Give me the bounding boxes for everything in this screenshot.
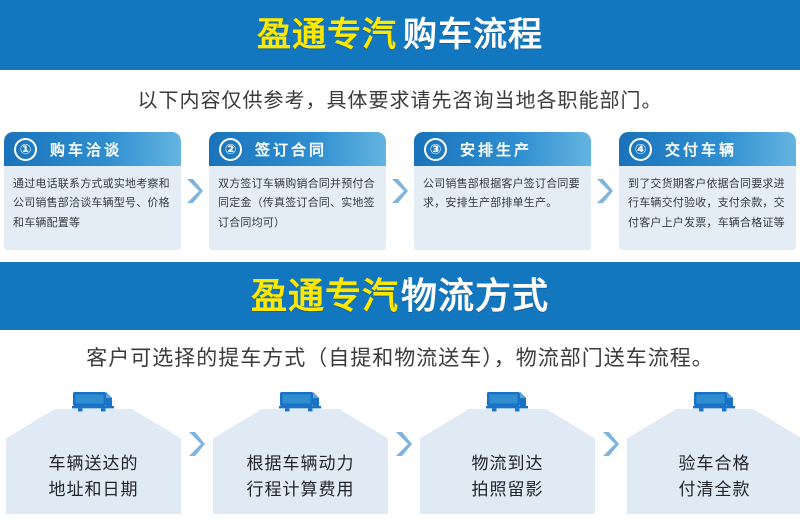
step-title: 交付车辆	[665, 139, 737, 160]
purchase-steps-row: ① 购车洽谈 通过电话联系方式或实地考察和公司销售部洽谈车辆型号、价格和车辆配置…	[0, 132, 800, 262]
step-title: 购车洽谈	[50, 139, 122, 160]
logistics-step-item: 验车合格 付清全款	[627, 388, 800, 514]
logistics-step-item: 车辆送达的 地址和日期	[6, 388, 181, 514]
logistics-chevron-arrow-1	[181, 388, 213, 514]
logistics-step-line1: 根据车辆动力	[213, 451, 388, 477]
chevron-right-icon	[391, 178, 409, 204]
truck-icon	[485, 390, 531, 414]
chevron-right-icon	[186, 178, 204, 204]
step-chevron-arrow-3	[591, 132, 619, 250]
logistics-step-line1: 物流到达	[420, 451, 595, 477]
logistics-step-text: 物流到达 拍照留影	[420, 451, 595, 502]
chevron-right-icon	[188, 431, 206, 457]
logistics-banner-rest: 物流方式	[401, 275, 549, 316]
logistics-step-item: 根据车辆动力 行程计算费用	[213, 388, 388, 514]
step-title: 签订合同	[255, 139, 327, 160]
truck-icon	[278, 390, 324, 414]
purchase-step-card: ② 签订合同 双方签订车辆购销合同并预付合同定金（传真签订合同、实地签订合同均可…	[209, 132, 386, 250]
purchase-section-banner: 盈通专汽购车流程	[0, 0, 800, 70]
chevron-right-icon	[602, 431, 620, 457]
truck-icon	[692, 390, 738, 414]
logistics-section-banner: 盈通专汽物流方式	[0, 262, 800, 330]
step-chevron-arrow-2	[386, 132, 414, 250]
logistics-step-line1: 车辆送达的	[6, 451, 181, 477]
purchase-subtitle: 以下内容仅供参考，具体要求请先咨询当地各职能部门。	[0, 70, 800, 132]
purchase-step-card: ④ 交付车辆 到了交货期客户依据合同要求进行车辆交付验收，支付余款，交付客户上户…	[619, 132, 796, 250]
purchase-step-header: ① 购车洽谈	[4, 132, 181, 166]
step-number-badge: ②	[219, 138, 242, 161]
step-body-text: 通过电话联系方式或实地考察和公司销售部洽谈车辆型号、价格和车辆配置等	[4, 166, 181, 233]
logistics-subtitle: 客户可选择的提车方式（自提和物流送车），物流部门送车流程。	[0, 330, 800, 388]
purchase-step-card: ① 购车洽谈 通过电话联系方式或实地考察和公司销售部洽谈车辆型号、价格和车辆配置…	[4, 132, 181, 250]
logistics-step-line2: 行程计算费用	[213, 477, 388, 503]
purchase-banner-brand: 盈通专汽	[257, 16, 397, 54]
logistics-steps-row: 车辆送达的 地址和日期 根据车辆动力 行程计算费用	[0, 388, 800, 514]
step-number-badge: ①	[14, 138, 37, 161]
logistics-step-text: 车辆送达的 地址和日期	[6, 451, 181, 502]
purchase-step-header: ③ 安排生产	[414, 132, 591, 166]
purchase-step-card: ③ 安排生产 公司销售部根据客户签订合同要求，安排生产部排单生产。	[414, 132, 591, 250]
purchase-step-header: ② 签订合同	[209, 132, 386, 166]
logistics-banner-title: 盈通专汽物流方式	[251, 278, 549, 314]
logistics-step-item: 物流到达 拍照留影	[420, 388, 595, 514]
logistics-banner-brand: 盈通专汽	[251, 275, 399, 316]
logistics-step-line2: 地址和日期	[6, 477, 181, 503]
logistics-step-line2: 付清全款	[627, 477, 800, 503]
step-body-text: 双方签订车辆购销合同并预付合同定金（传真签订合同、实地签订合同均可）	[209, 166, 386, 233]
step-body-text: 公司销售部根据客户签订合同要求，安排生产部排单生产。	[414, 166, 591, 214]
chevron-right-icon	[395, 431, 413, 457]
step-chevron-arrow-1	[181, 132, 209, 250]
step-number-badge: ④	[629, 138, 652, 161]
step-title: 安排生产	[460, 139, 532, 160]
logistics-step-text: 根据车辆动力 行程计算费用	[213, 451, 388, 502]
truck-icon	[71, 390, 117, 414]
logistics-step-line1: 验车合格	[627, 451, 800, 477]
logistics-chevron-arrow-2	[388, 388, 420, 514]
logistics-step-line2: 拍照留影	[420, 477, 595, 503]
step-number-badge: ③	[424, 138, 447, 161]
purchase-banner-title: 盈通专汽购车流程	[257, 18, 543, 52]
step-body-text: 到了交货期客户依据合同要求进行车辆交付验收，支付余款，交付客户上户发票，车辆合格…	[619, 166, 796, 233]
purchase-step-header: ④ 交付车辆	[619, 132, 796, 166]
chevron-right-icon	[596, 178, 614, 204]
logistics-chevron-arrow-3	[595, 388, 627, 514]
logistics-step-text: 验车合格 付清全款	[627, 451, 800, 502]
purchase-banner-rest: 购车流程	[403, 16, 543, 54]
